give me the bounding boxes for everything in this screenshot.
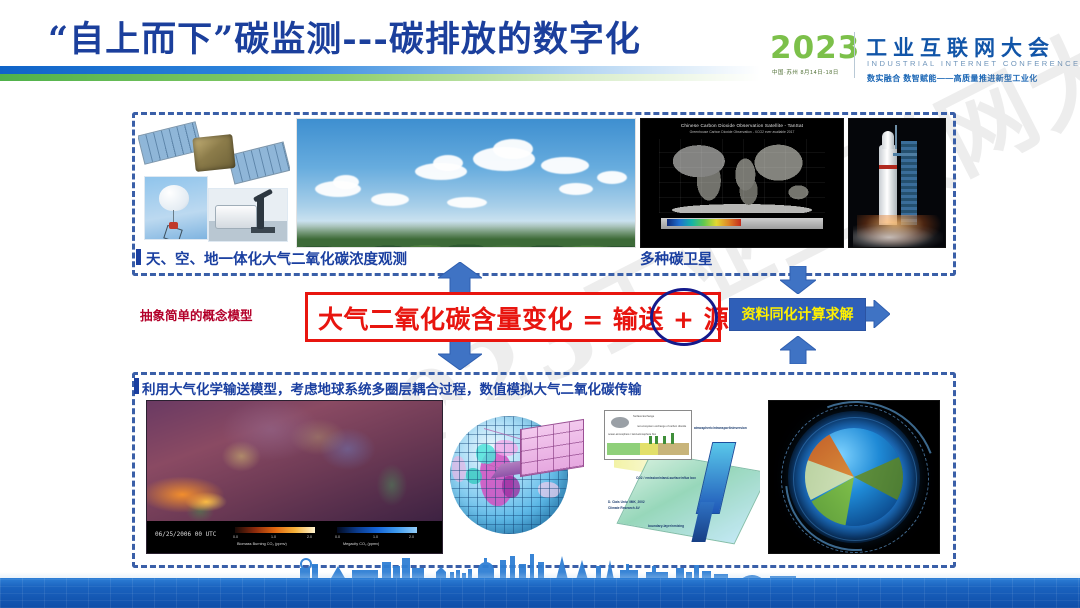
biomass-map-field — [147, 401, 442, 521]
inset-tree-icon — [671, 433, 674, 444]
biomass-burning-map-image: 06/25/2006 00 UTC 0.0 1.0 2.0 0.0 1.0 2.… — [146, 400, 443, 554]
tansat-world-map — [659, 139, 825, 213]
inset-land-strip — [607, 443, 689, 455]
logo-year: 2023 — [770, 30, 860, 66]
page-title: “自上而下”碳监测---碳排放的数字化 — [48, 12, 748, 68]
cloud-icon — [433, 155, 463, 171]
solver-label: 资料同化计算求解 — [730, 299, 865, 330]
balloon-icon — [159, 185, 189, 211]
biomass-colorbar-left-label: Biomass Burning CO₂ (ppmv) — [237, 542, 287, 546]
balloon-payload-icon — [169, 222, 178, 229]
satellite-collage-image — [138, 118, 290, 246]
biomass-tick-right-mid: 1.0 — [373, 535, 378, 539]
weather-balloon-photo — [144, 176, 208, 240]
inset-label-a: Surface Exchange — [633, 415, 654, 418]
conference-logo: 2023 中国·苏州 8月14日-18日 工业互联网大会 INDUSTRIAL … — [770, 28, 1066, 90]
footer-city-band — [0, 558, 1080, 608]
biomass-map-legend: 06/25/2006 00 UTC 0.0 1.0 2.0 0.0 1.0 2.… — [147, 521, 442, 553]
biomass-tick-left-mid: 1.0 — [271, 535, 276, 539]
satellite-caption: 多种碳卫星 — [640, 248, 713, 269]
cloud-icon — [333, 175, 359, 189]
forest-horizon — [297, 221, 635, 247]
ground-instrument-photo — [208, 188, 288, 242]
logo-conference-name-cn: 工业互联网大会 — [866, 32, 1055, 62]
cloud-icon — [447, 197, 487, 208]
inset-label-c: ocean-atmosphere / land-atmosphere flux — [608, 433, 656, 436]
schematic-credit-line-1: D. Ciais Univ. /IMK_2002 — [608, 500, 645, 504]
logo-conference-name-en: INDUSTRIAL INTERNET CONFERENCE — [867, 59, 1080, 68]
transport-model-schematic-image: Surface Exchange net ecosystem exchange … — [600, 404, 760, 548]
tansat-title: Chinese Carbon Dioxide Observation Satel… — [641, 123, 843, 128]
schematic-label-bottom: boundary-layer\nmixing — [648, 524, 684, 528]
cloud-icon — [371, 193, 409, 206]
arrow-up-observation-to-formula — [438, 262, 482, 294]
earth-cutaway-image — [768, 400, 940, 554]
rocket-body-icon — [879, 145, 897, 225]
logo-year-subtitle: 中国·苏州 8月14日-18日 — [772, 68, 839, 76]
inset-tree-icon — [649, 436, 652, 444]
model-grid-globe-image — [446, 400, 596, 552]
cloud-icon — [559, 183, 593, 195]
simulation-caption-tick — [134, 378, 139, 394]
solar-panel-right-icon — [227, 141, 290, 184]
arrow-down-formula-to-simulation — [438, 338, 482, 370]
rocket-launch-photo — [848, 118, 946, 248]
biomass-timestamp: 06/25/2006 00 UTC — [155, 531, 216, 538]
biomass-tick-right-min: 0.0 — [335, 535, 340, 539]
tower-mast — [895, 125, 897, 149]
arrow-down-observation-to-solver — [780, 266, 816, 294]
source-sink-highlight-circle — [650, 288, 718, 346]
satellite-body-icon — [192, 134, 235, 172]
tower-service-arm — [893, 153, 917, 156]
slide-root: “自上而下”碳监测---碳排放的数字化 2023 中国·苏州 8月14日-18日… — [0, 0, 1080, 608]
tansat-subtitle: Greenhouse Carbon Dioxide Observation - … — [641, 130, 843, 134]
inset-tree-icon — [663, 436, 666, 444]
inset-cloud-icon — [611, 417, 629, 428]
grid-cube-top-face — [520, 419, 584, 477]
biomass-colorbar-right — [337, 527, 417, 533]
cloud-icon — [597, 171, 627, 184]
rocket-flag-band — [879, 165, 897, 169]
cloud-icon — [541, 157, 589, 174]
biomass-colorbar-right-label: Megacity CO₂ (ppmv) — [343, 542, 379, 546]
cloud-icon — [493, 139, 533, 159]
header-rule-green — [0, 74, 760, 81]
schematic-label-top: atmospheric\ntransport\ninversion — [694, 426, 747, 430]
solver-box[interactable]: 资料同化计算求解 — [729, 298, 866, 331]
header-rule-blue — [0, 66, 760, 74]
schematic-inset-diagram: Surface Exchange net ecosystem exchange … — [604, 410, 692, 460]
simulation-caption: 利用大气化学输送模型，考虑地球系统多圈层耦合过程，数值模拟大气二氧化碳传输 — [142, 378, 642, 398]
biomass-tick-left-max: 2.0 — [307, 535, 312, 539]
inset-tree-icon — [655, 436, 658, 444]
biomass-colorbar-left — [235, 527, 315, 533]
observation-caption: 天、空、地一体化大气二氧化碳浓度观测 — [146, 248, 407, 269]
schematic-credit-line-2: Climate Research AV — [608, 506, 640, 510]
city-band-grid — [0, 578, 1080, 608]
biomass-tick-right-max: 2.0 — [409, 535, 414, 539]
biomass-tick-left-min: 0.0 — [233, 535, 238, 539]
sky-forest-photo — [296, 118, 636, 248]
tansat-colorbar — [667, 219, 741, 226]
arrow-up-simulation-to-solver — [780, 336, 816, 364]
spectrometer-icon — [215, 205, 257, 229]
tansat-map-grid — [659, 139, 825, 213]
slide-header: “自上而下”碳监测---碳排放的数字化 2023 中国·苏州 8月14日-18日… — [0, 0, 1080, 96]
rocket-nose-cone-icon — [882, 131, 894, 149]
schematic-label-left: CO2 / emission\nland-surface\nflux box — [636, 476, 696, 480]
concept-model-label: 抽象简单的概念模型 — [140, 305, 253, 324]
logo-tagline: 数实融合 数智赋能——高质量推进新型工业化 — [867, 73, 1038, 84]
launch-smoke — [853, 223, 943, 247]
logo-divider — [854, 32, 855, 78]
observation-caption-tick — [136, 249, 141, 265]
tansat-satellite-map-image: Chinese Carbon Dioxide Observation Satel… — [640, 118, 844, 248]
inset-label-b: net ecosystem exchange of carbon dioxide — [637, 425, 686, 428]
